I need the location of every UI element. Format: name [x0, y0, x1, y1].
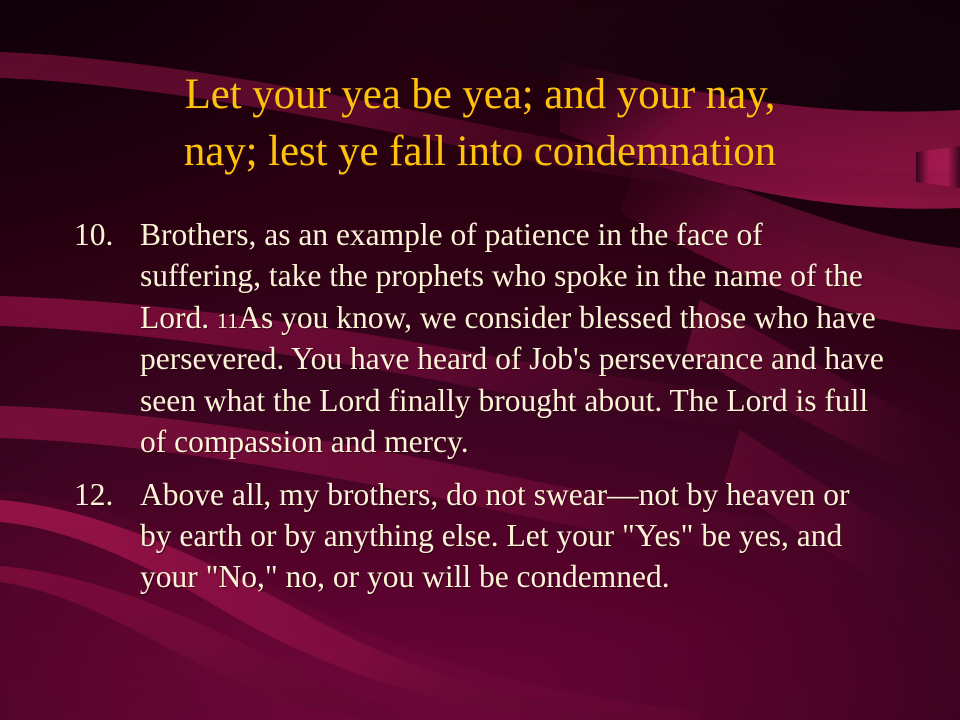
paragraph-text: Brothers, as an example of patience in t…	[140, 214, 884, 463]
slide-content: Let your yea be yea; and your nay, nay; …	[0, 0, 960, 720]
paragraph-text-after-verse: As you know, we consider blessed those w…	[140, 300, 884, 459]
paragraph-number: 12.	[74, 474, 126, 515]
paragraph-number: 10.	[74, 214, 126, 255]
slide-title-line-1: Let your yea be yea; and your nay,	[56, 66, 904, 123]
slide-body: 10. Brothers, as an example of patience …	[74, 214, 884, 609]
body-paragraph: 12. Above all, my brothers, do not swear…	[74, 474, 884, 598]
paragraph-text: Above all, my brothers, do not swear—not…	[140, 474, 884, 598]
verse-number: 11	[217, 308, 238, 333]
slide-title: Let your yea be yea; and your nay, nay; …	[56, 66, 904, 180]
body-paragraph: 10. Brothers, as an example of patience …	[74, 214, 884, 463]
slide-canvas: Let your yea be yea; and your nay, nay; …	[0, 0, 960, 720]
paragraph-text-before-verse: Above all, my brothers, do not swear—not…	[140, 477, 849, 595]
slide-title-line-2: nay; lest ye fall into condemnation	[56, 123, 904, 180]
